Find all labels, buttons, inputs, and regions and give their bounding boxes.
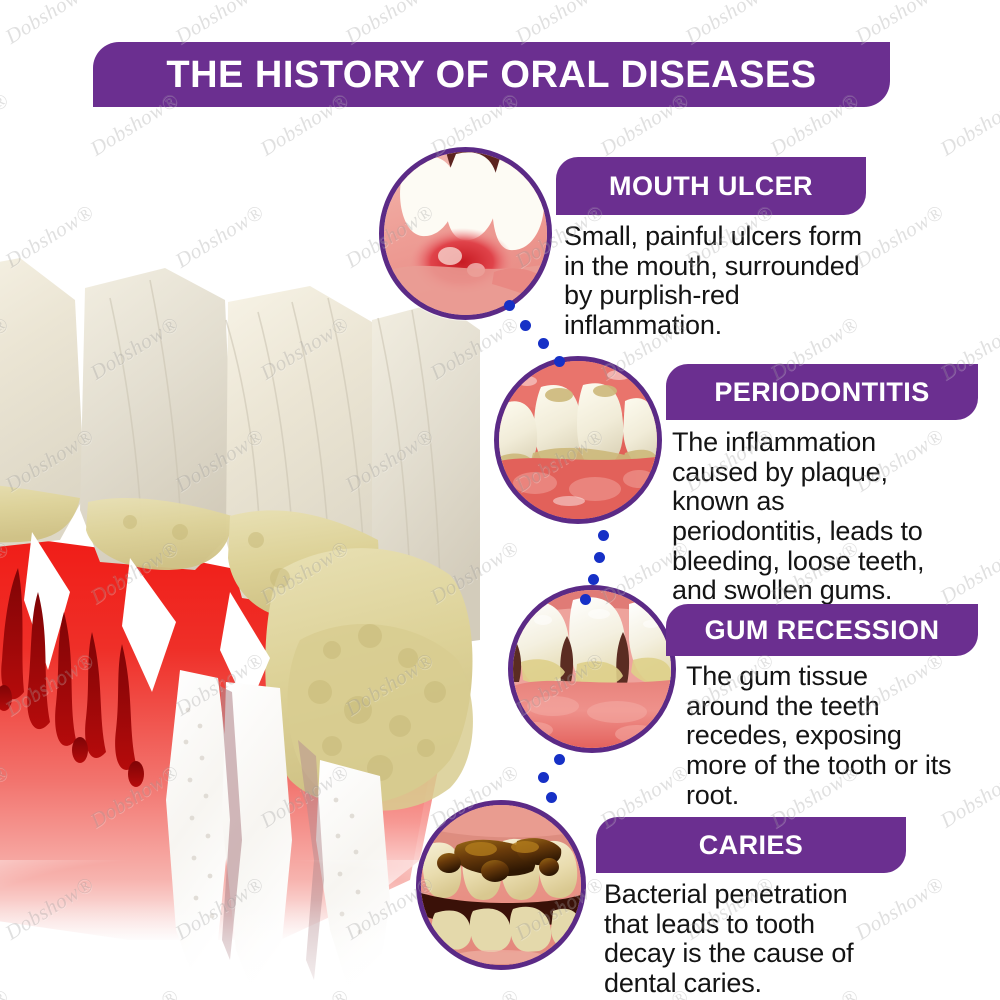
label-periodontitis: PERIODONTITIS [666,379,978,406]
label-pill-mouth-ulcer: MOUTH ULCER [556,157,866,215]
connector-dot [598,530,609,541]
connector-dot [580,594,591,605]
label-pill-caries: CARIES [596,817,906,873]
label-pill-gum-recession: GUM RECESSION [666,604,978,656]
label-gum-recession: GUM RECESSION [666,617,978,644]
connector-dot [554,754,565,765]
watermark-text: Dobshow® [0,88,13,162]
photo-caries [416,800,586,970]
connector-dot [554,356,565,367]
watermark-text: Dobshow® [1,0,98,49]
dental-anatomy-illustration [0,240,480,1000]
infographic-canvas: THE HISTORY OF ORAL DISEASES [0,0,1000,1000]
connector-dot [546,792,557,803]
watermark-text: Dobshow® [936,88,1000,162]
description-caries: Bacterial penetration that leads to toot… [604,880,1000,999]
periodontitis-photo-graphic [499,361,657,519]
photo-gum-recession [508,585,676,753]
teeth-cross-section-graphic [0,240,480,1000]
photo-mouth-ulcer [379,147,552,320]
caries-photo-graphic [421,805,581,965]
connector-dot [594,552,605,563]
connector-dot [588,574,599,585]
photo-periodontitis [494,356,662,524]
connector-dot [504,300,515,311]
connector-dot [538,772,549,783]
label-caries: CARIES [596,832,906,859]
mouth-ulcer-photo-graphic [384,152,547,315]
gum-recession-photo-graphic [513,590,671,748]
page-title: THE HISTORY OF ORAL DISEASES [166,56,816,94]
label-mouth-ulcer: MOUTH ULCER [556,173,866,200]
label-pill-periodontitis: PERIODONTITIS [666,364,978,420]
description-gum-recession: The gum tissue around the teeth recedes,… [686,662,1000,810]
connector-dot [520,320,531,331]
description-periodontitis: The inflammation caused by plaque, known… [672,428,1000,606]
description-mouth-ulcer: Small, painful ulcers form in the mouth,… [564,222,984,341]
connector-dot [538,338,549,349]
page-title-banner: THE HISTORY OF ORAL DISEASES [93,42,890,107]
